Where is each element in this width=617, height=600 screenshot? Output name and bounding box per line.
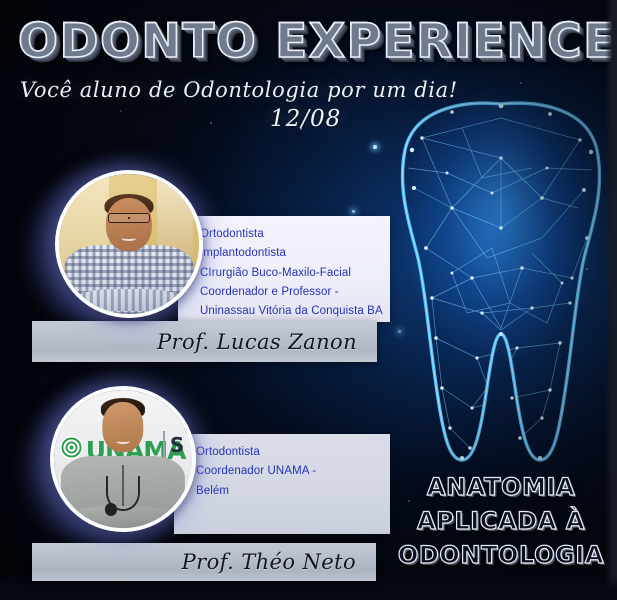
unama-logo-icon [60, 436, 83, 459]
speaker-2-photo: UNAMA S [54, 390, 192, 528]
photo-face [106, 198, 152, 251]
event-subtitle-line-3: ODONTOLOGIA [392, 538, 610, 572]
credential-line: Ortodontista [200, 225, 380, 244]
photo-smile [121, 236, 136, 242]
tagline: Você aluno de Odontologia por um dia! [20, 78, 458, 102]
right-border-strip [605, 0, 617, 600]
speaker-1-name-banner: Prof. Lucas Zanon [32, 321, 377, 362]
speaker-card-1: Ortodontista Implantodontista CIrurgião … [22, 160, 390, 372]
speaker-1-credentials: Ortodontista Implantodontista CIrurgião … [178, 216, 390, 322]
photo-smile [116, 438, 130, 444]
event-subtitle-line-2: APLICADA À [392, 504, 610, 538]
speaker-1-name: Prof. Lucas Zanon [157, 330, 357, 354]
event-subtitle-line-1: ANATOMIA [392, 470, 610, 504]
photo-face [102, 402, 143, 452]
credential-line: CIrurgião Buco-Maxilo-Facial [200, 264, 380, 283]
photo-crossed-arms [76, 289, 182, 311]
credential-line: Ortodontista [196, 443, 380, 462]
speaker-2-credentials: Ortodontista Coordenador UNAMA - Belém [174, 434, 390, 534]
speaker-2-name: Prof. Théo Neto [182, 550, 356, 574]
event-date: 12/08 [270, 106, 341, 132]
credential-line: Belém [196, 482, 380, 501]
banner-secondary-mark: S [170, 433, 184, 457]
page-title: ODONTO EXPERIENCE [18, 18, 600, 65]
poster-canvas: ODONTO EXPERIENCE Você aluno de Odontolo… [0, 0, 617, 600]
speaker-1-avatar [55, 170, 203, 318]
credential-line: Coordenador UNAMA - [196, 462, 380, 481]
photo-glasses-icon [108, 213, 150, 223]
speaker-2-avatar: UNAMA S [50, 386, 196, 532]
credential-line: Uninassau Vitória da Conquista BA [200, 302, 380, 321]
event-subtitle: ANATOMIA APLICADA À ODONTOLOGIA [392, 470, 610, 572]
speaker-1-photo [59, 174, 199, 314]
credential-line: Coordenador e Professor - [200, 283, 380, 302]
speaker-2-name-banner: Prof. Théo Neto [32, 543, 376, 581]
credential-line: Implantodontista [200, 244, 380, 263]
stethoscope-bell-icon [105, 503, 117, 515]
page-title-text: ODONTO EXPERIENCE [18, 14, 617, 69]
speaker-card-2: Ortodontista Coordenador UNAMA - Belém U… [18, 378, 390, 588]
